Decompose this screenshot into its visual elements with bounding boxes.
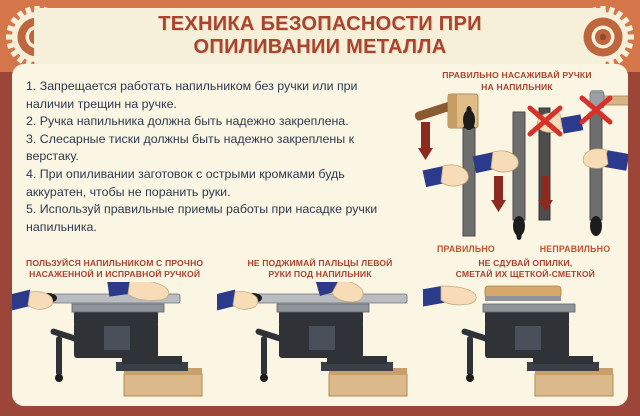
arrow-down-icon: [491, 176, 506, 212]
rule-item: 1. Запрещается работать напильником без …: [26, 78, 402, 113]
bottom-panel-3: НЕ СДУВАЙ ОПИЛКИ, СМЕТАЙ ИХ ЩЕТКОЙ-СМЕТК…: [423, 254, 628, 406]
handle-mounting-diagram: ПРАВИЛЬНО НАСАЖИВАЙ РУЧКИ НА НАПИЛЬНИК: [410, 64, 628, 254]
hand-icon: [423, 165, 469, 187]
bottom-panel-1-illustration: [12, 282, 217, 406]
rule-item: 2. Ручка напильника должна быть надежно …: [26, 113, 402, 131]
rules-list: 1. Запрещается работать напильником без …: [12, 64, 410, 254]
bottom-panel-1: ПОЛЬЗУЙСЯ НАПИЛЬНИКОМ С ПРОЧНО НАСАЖЕННО…: [12, 254, 217, 406]
bottom-section: ПОЛЬЗУЙСЯ НАПИЛЬНИКОМ С ПРОЧНО НАСАЖЕННО…: [12, 254, 628, 406]
rule-item: 3. Слесарные тиски должны быть надежно з…: [26, 131, 402, 166]
verdict-correct: ПРАВИЛЬНО: [414, 244, 518, 254]
arrow-down-icon: [418, 122, 433, 160]
brush-icon: [485, 286, 561, 301]
rule-item: 5. Используй правильные приемы работы пр…: [26, 201, 402, 236]
hand-icon: [583, 149, 628, 171]
hand-icon-left: [423, 286, 476, 307]
hand-icon: [473, 151, 519, 173]
rule-item: 4. При опиливании заготовок с острыми кр…: [26, 166, 402, 201]
bottom-panel-1-title: ПОЛЬЗУЙСЯ НАПИЛЬНИКОМ С ПРОЧНО НАСАЖЕННО…: [14, 258, 215, 281]
bottom-panel-3-illustration: [423, 282, 628, 406]
bottom-panel-2-title: НЕ ПОДЖИМАЙ ПАЛЬЦЫ ЛЕВОЙ РУКИ ПОД НАПИЛЬ…: [219, 258, 420, 281]
header-band: ТЕХНИКА БЕЗОПАСНОСТИ ПРИ ОПИЛИВАНИИ МЕТА…: [0, 0, 640, 72]
title-banner: ТЕХНИКА БЕЗОПАСНОСТИ ПРИ ОПИЛИВАНИИ МЕТА…: [34, 8, 606, 64]
hand-icon-left: [217, 290, 258, 311]
hand-icon-left: [12, 290, 53, 311]
bottom-panel-2: НЕ ПОДЖИМАЙ ПАЛЬЦЫ ЛЕВОЙ РУКИ ПОД НАПИЛЬ…: [217, 254, 422, 406]
bottom-panel-2-illustration: [217, 282, 422, 406]
verdict-incorrect: НЕПРАВИЛЬНО: [520, 244, 628, 254]
content-panel: 1. Запрещается работать напильником без …: [12, 64, 628, 406]
page-title: ТЕХНИКА БЕЗОПАСНОСТИ ПРИ ОПИЛИВАНИИ МЕТА…: [158, 13, 482, 59]
file-incorrect-metal-hammer: [582, 90, 628, 236]
gear-icon-right: [572, 6, 634, 68]
safety-poster: ТЕХНИКА БЕЗОПАСНОСТИ ПРИ ОПИЛИВАНИИ МЕТА…: [0, 0, 640, 416]
file-incorrect-hand-strike: [530, 108, 583, 220]
upper-section: 1. Запрещается работать напильником без …: [12, 64, 628, 254]
bottom-panel-3-title: НЕ СДУВАЙ ОПИЛКИ, СМЕТАЙ ИХ ЩЕТКОЙ-СМЕТК…: [425, 258, 626, 281]
handle-mounting-illustration: [410, 90, 628, 250]
